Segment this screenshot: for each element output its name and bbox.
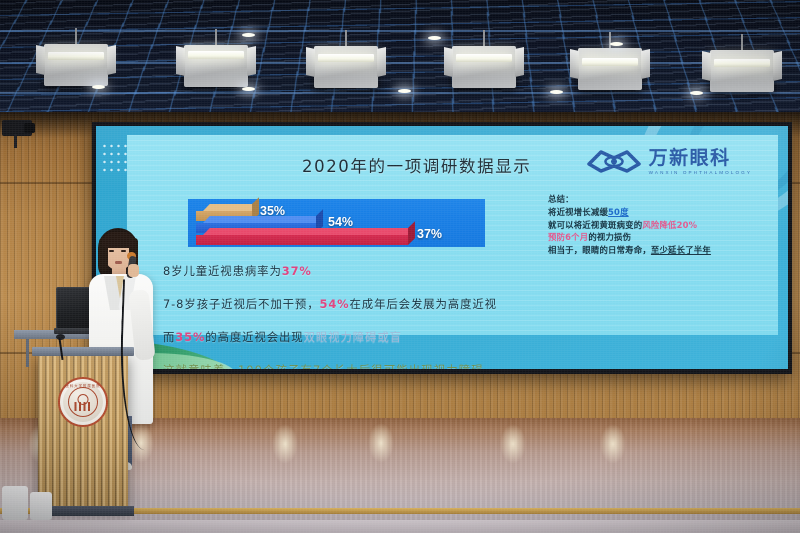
- stage-light-fixture: [452, 46, 516, 88]
- slide-title: 2020年的一项调研数据显示: [302, 153, 531, 177]
- bullet-line-1: 8岁儿童近视患病率为37%: [163, 263, 764, 279]
- bullet-list: 8岁儿童近视患病率为37% 7-8岁孩子近视后不加干预，54%在成年后会发展为高…: [163, 263, 764, 369]
- ceiling-downlight: [610, 42, 623, 46]
- ceiling-downlight: [242, 33, 255, 37]
- chart-label-54: 54%: [328, 215, 353, 229]
- dot-grid-decoration-icon: [101, 142, 127, 176]
- brand-name-cn: 万新眼科: [649, 149, 752, 168]
- summary-block: 总结： 将近视增长减缓50度 就可以将近视黄斑病变的风险降低20% 预防6个月的…: [548, 193, 788, 257]
- ceiling-grid-vertical: [0, 0, 800, 118]
- brand-name-en: WANXIN OPHTHALMOLOGY: [649, 171, 752, 176]
- summary-line-4: 相当于，眼睛的日常寿命，至少延长了半年: [548, 244, 788, 257]
- ceiling-downlight: [690, 91, 703, 95]
- ceiling-downlight: [428, 36, 441, 40]
- summary-line-3: 预防6个月的视力损伤: [548, 231, 788, 244]
- slide-content-card: 2020年的一项调研数据显示 万新眼科 WANXIN OPHTHALMOLOGY: [127, 135, 778, 335]
- summary-heading: 总结：: [548, 193, 788, 206]
- ceiling-camera-icon: [0, 116, 36, 146]
- ceiling-downlight: [550, 90, 563, 94]
- stage-light-fixture: [578, 48, 642, 90]
- eye-logo-icon: [586, 147, 642, 177]
- bullet-line-4: 这就意味着，100个孩子有7个长大后很可能出现视力障碍: [163, 362, 764, 369]
- summary-line-2: 就可以将近视黄斑病变的风险降低20%: [548, 219, 788, 232]
- chart-label-37: 37%: [417, 227, 442, 241]
- podium: 医科大学附属医院: [38, 355, 128, 507]
- chart-bar-37: [196, 228, 408, 245]
- audience-chair: [2, 486, 28, 520]
- stage-light-fixture: [44, 44, 108, 86]
- projection-screen-bezel: 2020年的一项调研数据显示 万新眼科 WANXIN OPHTHALMOLOGY: [92, 122, 792, 374]
- stage-front-edge: [0, 520, 800, 533]
- stage-light-fixture: [314, 46, 378, 88]
- bullet-line-3: 而35%的高度近视会出现双眼视力障碍或盲: [163, 329, 764, 345]
- ceiling: [0, 0, 800, 118]
- audience-chair: [30, 492, 52, 520]
- presentation-photo: 2020年的一项调研数据显示 万新眼科 WANXIN OPHTHALMOLOGY: [0, 0, 800, 533]
- ceiling-downlight: [398, 89, 411, 93]
- summary-line-1: 将近视增长减缓50度: [548, 206, 788, 219]
- bullet-line-2: 7-8岁孩子近视后不加干预，54%在成年后会发展为高度近视: [163, 296, 764, 312]
- bar-chart: 35% 54% 37%: [188, 199, 485, 247]
- speaker-hair: [102, 232, 135, 248]
- stage-light-fixture: [710, 50, 774, 92]
- ceiling-downlight: [92, 85, 105, 89]
- institution-emblem-icon: 医科大学附属医院: [58, 377, 108, 427]
- projection-screen: 2020年的一项调研数据显示 万新眼科 WANXIN OPHTHALMOLOGY: [96, 126, 788, 369]
- stage-light-fixture: [184, 45, 248, 87]
- brand-logo: 万新眼科 WANXIN OPHTHALMOLOGY: [586, 147, 752, 177]
- ceiling-downlight: [242, 87, 255, 91]
